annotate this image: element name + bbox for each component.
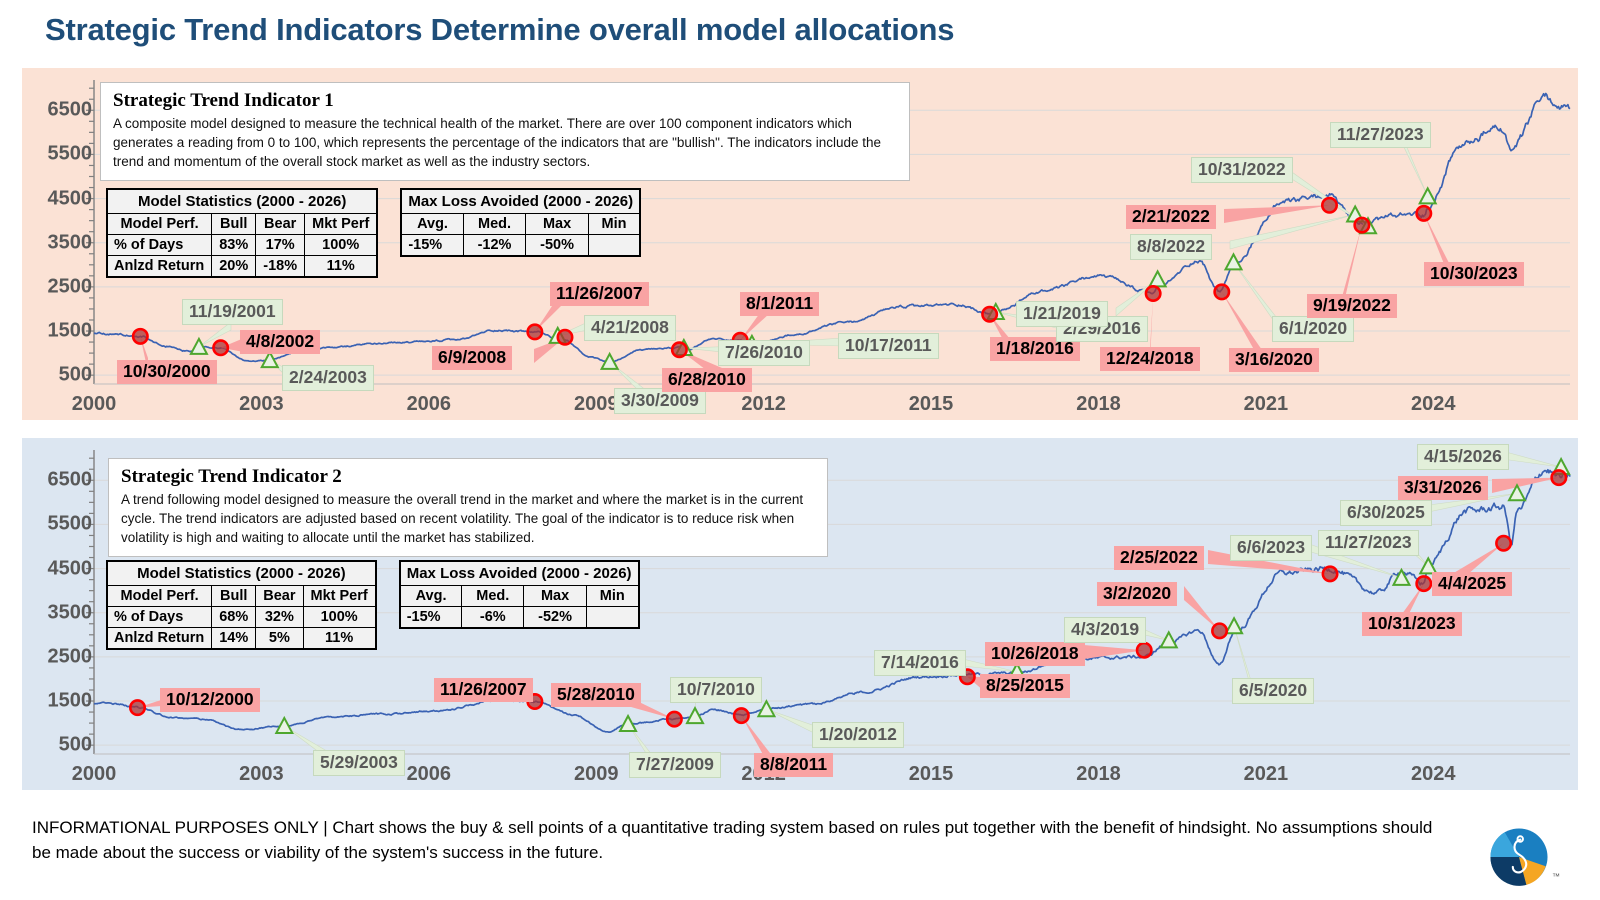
x-axis-tick-label: 2018 — [1076, 763, 1121, 786]
sell-signal-label: 4/8/2002 — [240, 330, 320, 354]
indicator-1-model-stats-cell: Anlzd Return — [107, 256, 212, 278]
indicator-1-model-stats-cell: -18% — [256, 256, 305, 278]
indicator-2-description: A trend following model designed to meas… — [121, 490, 815, 547]
y-axis-tick-label: 1500 — [28, 690, 92, 713]
x-axis-tick-label: 2018 — [1076, 393, 1121, 416]
buy-signal-label: 10/17/2011 — [838, 333, 939, 359]
x-axis-tick-label: 2006 — [407, 393, 452, 416]
y-axis-tick-label: 2500 — [28, 645, 92, 668]
sell-signal-label: 10/26/2018 — [985, 642, 1085, 666]
y-axis-tick-label: 4500 — [28, 187, 92, 210]
x-axis-tick-label: 2015 — [909, 763, 954, 786]
chart-panel-indicator-2: 650055004500350025001500500 200020032006… — [22, 438, 1578, 790]
y-axis-tick-label: 5500 — [28, 143, 92, 166]
sell-signal-label: 9/19/2022 — [1307, 294, 1397, 318]
sell-signal-label: 3/31/2026 — [1398, 476, 1488, 500]
y-axis-tick-label: 6500 — [28, 99, 92, 122]
indicator-2-model-stats-cell: 32% — [256, 607, 303, 628]
indicator-2-model-stats-cell: 14% — [212, 628, 256, 650]
buy-signal-label: 10/7/2010 — [670, 677, 762, 703]
indicator-1-model-stats-cell: 20% — [212, 256, 256, 278]
indicator-2-max-loss-table: Max Loss Avoided (2000 - 2026)Avg.Med.Ma… — [399, 560, 640, 629]
buy-signal-label: 7/27/2009 — [629, 752, 721, 778]
indicator-1-y-axis: 650055004500350025001500500 — [22, 68, 92, 420]
sell-signal-label: 10/30/2000 — [117, 360, 217, 384]
indicator-1-model-stats-cell: 11% — [305, 256, 378, 278]
buy-signal-label: 6/1/2020 — [1272, 316, 1354, 342]
indicator-2-y-axis: 650055004500350025001500500 — [22, 438, 92, 790]
indicator-1-model-stats-cell: 83% — [212, 235, 256, 256]
indicator-1-model-stats-header: Model Perf. — [107, 214, 212, 235]
sell-signal-label: 10/12/2000 — [160, 688, 260, 712]
x-axis-tick-label: 2024 — [1411, 393, 1456, 416]
company-logo-icon — [1488, 826, 1550, 888]
y-axis-tick-label: 6500 — [28, 469, 92, 492]
indicator-2-model-stats-cell: Anlzd Return — [107, 628, 212, 650]
indicator-2-model-stats-header: Mkt Perf — [303, 586, 376, 607]
x-axis-tick-label: 2015 — [909, 393, 954, 416]
indicator-2-model-statistics-table: Model Statistics (2000 - 2026)Model Perf… — [106, 560, 377, 650]
sell-signal-label: 10/30/2023 — [1424, 262, 1524, 286]
indicator-1-model-stats-cell: 17% — [256, 235, 305, 256]
indicator-1-description: A composite model designed to measure th… — [113, 114, 897, 171]
y-axis-tick-label: 1500 — [28, 320, 92, 343]
x-axis-tick-label: 2021 — [1244, 763, 1289, 786]
indicator-1-max-loss-cell: -50% — [526, 235, 589, 257]
indicator-2-stats-group: Model Statistics (2000 - 2026)Model Perf… — [106, 560, 640, 650]
indicator-1-max-loss-table: Max Loss Avoided (2000 - 2026)Avg.Med.Ma… — [400, 188, 641, 257]
indicator-2-max-loss-cell — [586, 607, 638, 629]
buy-signal-label: 7/14/2016 — [874, 650, 966, 676]
buy-signal-label: 8/8/2022 — [1130, 234, 1212, 260]
sell-signal-label: 3/16/2020 — [1229, 348, 1319, 372]
indicator-1-model-stats-cell: 100% — [305, 235, 378, 256]
indicator-2-model-stats-cell: 11% — [303, 628, 376, 650]
chart-panel-indicator-1: 650055004500350025001500500 200020032006… — [22, 68, 1578, 420]
indicator-2-heading: Strategic Trend Indicator 2 — [121, 466, 815, 488]
indicator-2-model-stats-cell: % of Days — [107, 607, 212, 628]
indicator-1-max-loss-cell: -12% — [463, 235, 526, 257]
x-axis-tick-label: 2012 — [741, 393, 786, 416]
indicator-1-model-stats-cell: % of Days — [107, 235, 212, 256]
indicator-1-model-stats-header: Bear — [256, 214, 305, 235]
buy-signal-label: 6/30/2025 — [1340, 500, 1432, 526]
x-axis-tick-label: 2021 — [1244, 393, 1289, 416]
indicator-2-max-loss-header: Max — [524, 586, 587, 607]
buy-signal-label: 11/27/2023 — [1330, 122, 1431, 148]
indicator-2-max-loss-header: Avg. — [400, 586, 462, 607]
indicator-1-stats-group: Model Statistics (2000 - 2026)Model Perf… — [106, 188, 641, 278]
indicator-2-model-stats-cell: 68% — [212, 607, 256, 628]
indicator-1-max-loss-header: Avg. — [401, 214, 463, 235]
trademark-symbol: ™ — [1552, 872, 1560, 881]
y-axis-tick-label: 5500 — [28, 513, 92, 536]
sell-signal-label: 3/2/2020 — [1097, 582, 1177, 606]
indicator-2-max-loss-cell: -6% — [462, 607, 524, 629]
sell-signal-label: 8/8/2011 — [754, 753, 833, 777]
y-axis-tick-label: 500 — [28, 734, 92, 757]
indicator-2-model-stats-cell: 100% — [303, 607, 376, 628]
indicator-2-max-loss-cell: -52% — [524, 607, 587, 629]
indicator-2-max-loss-header: Med. — [462, 586, 524, 607]
indicator-2-max-loss-caption: Max Loss Avoided (2000 - 2026) — [400, 561, 639, 586]
indicator-1-model-stats-header: Mkt Perf — [305, 214, 378, 235]
buy-signal-label: 1/21/2019 — [1016, 301, 1108, 327]
sell-signal-label: 6/28/2010 — [662, 368, 752, 392]
buy-signal-label: 4/21/2008 — [584, 315, 676, 341]
indicator-1-max-loss-header: Med. — [463, 214, 526, 235]
sell-signal-label: 11/26/2007 — [550, 282, 649, 306]
indicator-1-max-loss-caption: Max Loss Avoided (2000 - 2026) — [401, 189, 640, 214]
y-axis-tick-label: 3500 — [28, 601, 92, 624]
indicator-2-max-loss-header: Min — [586, 586, 638, 607]
buy-signal-label: 11/19/2001 — [182, 299, 283, 325]
x-axis-tick-label: 2009 — [574, 393, 619, 416]
indicator-1-heading: Strategic Trend Indicator 1 — [113, 90, 897, 112]
buy-signal-label: 11/27/2023 — [1318, 530, 1419, 556]
x-axis-tick-label: 2009 — [574, 763, 619, 786]
indicator-1-max-loss-header: Min — [588, 214, 640, 235]
indicator-1-max-loss-header: Max — [526, 214, 589, 235]
indicator-1-model-stats-caption: Model Statistics (2000 - 2026) — [107, 189, 377, 214]
indicator-2-info-box: Strategic Trend Indicator 2 A trend foll… — [108, 458, 828, 557]
buy-signal-label: 10/31/2022 — [1191, 157, 1293, 183]
y-axis-tick-label: 500 — [28, 364, 92, 387]
sell-signal-label: 2/21/2022 — [1126, 205, 1216, 229]
x-axis-tick-label: 2000 — [72, 763, 117, 786]
x-axis-tick-label: 2024 — [1411, 763, 1456, 786]
buy-signal-label: 2/24/2003 — [282, 365, 374, 391]
buy-signal-label: 4/15/2026 — [1417, 444, 1509, 470]
disclaimer-text: INFORMATIONAL PURPOSES ONLY | Chart show… — [32, 816, 1452, 865]
indicator-1-model-stats-header: Bull — [212, 214, 256, 235]
indicator-1-max-loss-cell: -15% — [401, 235, 463, 257]
sell-signal-label: 10/31/2023 — [1362, 612, 1462, 636]
buy-signal-label: 6/6/2023 — [1230, 535, 1312, 561]
indicator-1-model-statistics-table: Model Statistics (2000 - 2026)Model Perf… — [106, 188, 378, 278]
sell-signal-label: 6/9/2008 — [432, 346, 512, 370]
sell-signal-label: 8/25/2015 — [980, 674, 1070, 698]
buy-signal-label: 5/29/2003 — [313, 750, 405, 776]
x-axis-tick-label: 2006 — [407, 763, 452, 786]
sell-signal-label: 8/1/2011 — [740, 292, 819, 316]
page-title: Strategic Trend Indicators Determine ove… — [45, 12, 954, 48]
y-axis-tick-label: 2500 — [28, 275, 92, 298]
sell-signal-label: 2/25/2022 — [1114, 546, 1204, 570]
x-axis-tick-label: 2003 — [239, 763, 284, 786]
buy-signal-label: 6/5/2020 — [1232, 678, 1314, 704]
buy-signal-label: 4/3/2019 — [1064, 617, 1146, 643]
indicator-1-info-box: Strategic Trend Indicator 1 A composite … — [100, 82, 910, 181]
indicator-2-model-stats-header: Model Perf. — [107, 586, 212, 607]
x-axis-tick-label: 2003 — [239, 393, 284, 416]
indicator-2-model-stats-header: Bull — [212, 586, 256, 607]
indicator-1-max-loss-cell — [588, 235, 640, 257]
sell-signal-label: 12/24/2018 — [1100, 347, 1200, 371]
x-axis-tick-label: 2000 — [72, 393, 117, 416]
indicator-2-model-stats-header: Bear — [256, 586, 303, 607]
indicator-2-model-stats-cell: 5% — [256, 628, 303, 650]
indicator-2-model-stats-caption: Model Statistics (2000 - 2026) — [107, 561, 376, 586]
indicator-2-max-loss-cell: -15% — [400, 607, 462, 629]
sell-signal-label: 5/28/2010 — [551, 683, 641, 707]
y-axis-tick-label: 4500 — [28, 557, 92, 580]
sell-signal-label: 11/26/2007 — [434, 678, 533, 702]
sell-signal-label: 4/4/2025 — [1432, 572, 1512, 596]
y-axis-tick-label: 3500 — [28, 231, 92, 254]
buy-signal-label: 1/20/2012 — [812, 722, 904, 748]
buy-signal-label: 7/26/2010 — [718, 340, 810, 366]
